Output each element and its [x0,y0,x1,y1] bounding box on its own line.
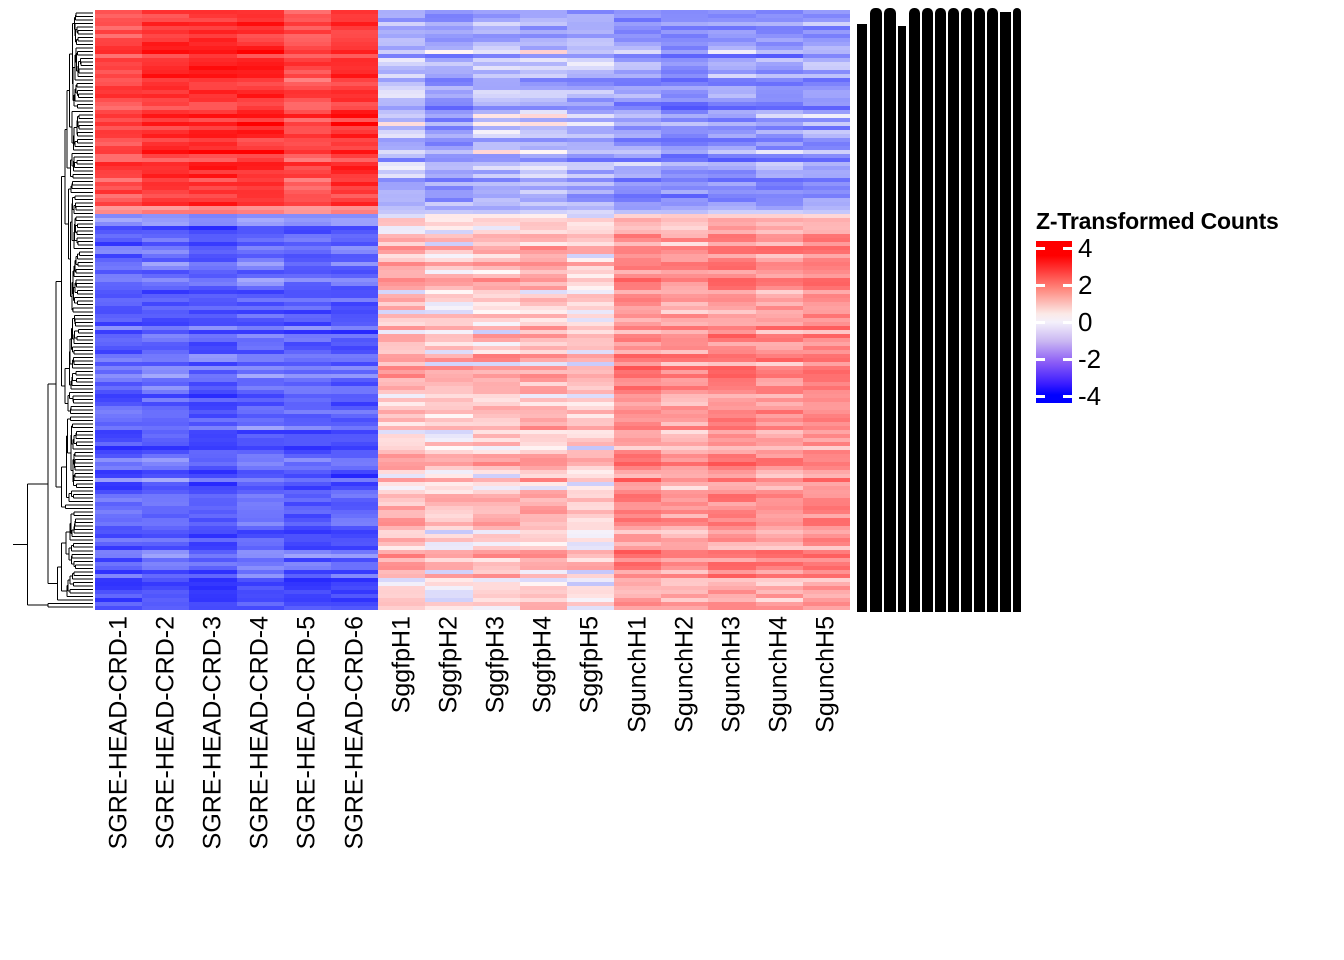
heatmap-cell [237,606,284,610]
colorbar-tick-mark [1036,395,1045,398]
heatmap-cell [803,606,850,610]
column-label-7: SggfpH1 [378,612,425,942]
column-label-text: SggfpH5 [578,616,603,713]
colorbar-tick-mark [1036,321,1045,324]
heatmap-column [661,10,708,610]
heatmap-column [425,10,472,610]
column-label-text: SGRE-HEAD-CRD-3 [200,616,225,849]
heatmap-column [803,10,850,610]
row-labels-dense [857,8,1022,612]
column-label-4: SGRE-HEAD-CRD-4 [237,612,284,942]
colorbar-tick-mark [1063,321,1072,324]
colorbar-tick-mark [1063,284,1072,287]
column-label-text: SggfpH4 [531,616,556,713]
colorbar-tick-mark [1063,395,1072,398]
row-dendrogram [12,10,94,610]
heatmap-column [142,10,189,610]
colorbar-tick-label: -4 [1078,383,1101,409]
colorbar-tick-labels: 420-2-4 [1078,241,1124,403]
heatmap-column [237,10,284,610]
row-label-glyph-column [935,8,946,612]
row-label-glyph-column [884,8,896,612]
heatmap-column [520,10,567,610]
heatmap-cell [142,606,189,610]
column-label-text: SGRE-HEAD-CRD-1 [106,616,131,849]
heatmap-column [756,10,803,610]
row-dendrogram-svg [12,10,94,610]
column-label-text: SGRE-HEAD-CRD-2 [153,616,178,849]
heatmap-cell [708,606,755,610]
column-label-text: SggfpH1 [389,616,414,713]
heatmap-cell [189,606,236,610]
column-label-10: SggfpH4 [520,612,567,942]
column-label-text: SGRE-HEAD-CRD-6 [342,616,367,849]
column-label-12: SgunchH1 [614,612,661,942]
row-label-glyph-column [922,8,933,612]
heatmap-column [331,10,378,610]
column-label-text: SGRE-HEAD-CRD-4 [248,616,273,849]
row-label-glyph-column [909,8,920,612]
heatmap-cell [614,606,661,610]
heatmap-column [95,10,142,610]
column-label-6: SGRE-HEAD-CRD-6 [331,612,378,942]
legend: Z-Transformed Counts 420-2-4 [1036,208,1279,403]
colorbar [1036,241,1072,403]
heatmap-cell [520,606,567,610]
row-label-glyph-column [1000,12,1011,612]
legend-title: Z-Transformed Counts [1036,208,1279,235]
heatmap-column [614,10,661,610]
heatmap-cell [284,606,331,610]
row-label-glyph-column [987,8,998,612]
column-label-1: SGRE-HEAD-CRD-1 [95,612,142,942]
heatmap-matrix [95,10,850,610]
heatmap-cell [331,606,378,610]
heatmap-cell [95,606,142,610]
column-labels: SGRE-HEAD-CRD-1SGRE-HEAD-CRD-2SGRE-HEAD-… [95,612,850,942]
row-label-glyph-column [857,24,867,612]
heatmap-cell [567,606,614,610]
colorbar-tick-mark [1063,358,1072,361]
row-label-glyph-column [948,8,959,612]
column-label-text: SgunchH1 [625,616,650,733]
legend-body: 420-2-4 [1036,241,1279,403]
row-label-glyph-column [961,8,972,612]
column-label-text: SgunchH5 [814,616,839,733]
heatmap-column [284,10,331,610]
heatmap-cell [378,606,425,610]
column-label-text: SggfpH3 [484,616,509,713]
heatmap-cell [473,606,520,610]
row-label-glyph-column [974,8,985,612]
colorbar-tick-mark [1036,358,1045,361]
heatmap-cell [661,606,708,610]
column-label-text: SgunchH3 [720,616,745,733]
column-label-13: SgunchH2 [661,612,708,942]
figure-canvas: SGRE-HEAD-CRD-1SGRE-HEAD-CRD-2SGRE-HEAD-… [0,0,1344,960]
heatmap-column [567,10,614,610]
column-label-8: SggfpH2 [425,612,472,942]
column-label-3: SGRE-HEAD-CRD-3 [189,612,236,942]
column-label-text: SgunchH2 [672,616,697,733]
heatmap-column [473,10,520,610]
heatmap-column [189,10,236,610]
column-label-text: SGRE-HEAD-CRD-5 [295,616,320,849]
column-label-11: SggfpH5 [567,612,614,942]
colorbar-tick-label: 4 [1078,235,1092,261]
column-label-15: SgunchH4 [756,612,803,942]
row-label-glyph-column [1013,8,1021,612]
colorbar-tick-mark [1036,284,1045,287]
row-label-glyph-column [870,8,882,612]
heatmap-cell [756,606,803,610]
row-label-glyph-column [898,26,906,612]
column-label-14: SgunchH3 [708,612,755,942]
column-label-9: SggfpH3 [473,612,520,942]
colorbar-tick-mark [1063,247,1072,250]
heatmap-cell [425,606,472,610]
colorbar-tick-label: 0 [1078,309,1092,335]
column-label-2: SGRE-HEAD-CRD-2 [142,612,189,942]
column-label-text: SgunchH4 [767,616,792,733]
colorbar-tick-mark [1036,247,1045,250]
heatmap-column [378,10,425,610]
column-label-text: SggfpH2 [436,616,461,713]
column-label-16: SgunchH5 [803,612,850,942]
column-label-5: SGRE-HEAD-CRD-5 [284,612,331,942]
colorbar-tick-label: -2 [1078,346,1101,372]
colorbar-tick-label: 2 [1078,272,1092,298]
heatmap-column [708,10,755,610]
